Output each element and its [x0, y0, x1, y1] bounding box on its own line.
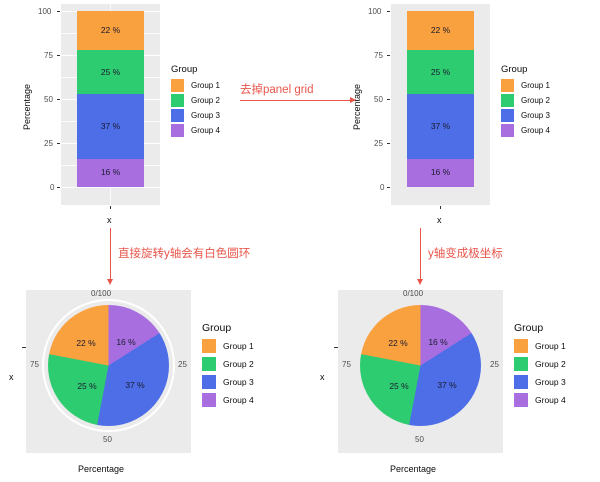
polar-tick-75: 75 — [30, 360, 39, 369]
bar-left-legend: Group Group 1 Group 2 Group 3 Group 4 — [171, 64, 220, 138]
bar-right-y-axis-title: Percentage — [352, 84, 362, 130]
bar-left-ytick-mark — [57, 187, 60, 188]
legend-item-group1[interactable]: Group 1 — [171, 78, 220, 93]
pie-left-plot-panel: 16 % 37 % 25 % 22 % 0/100 25 50 75 — [26, 290, 191, 453]
chart-pie-right: x 16 % 37 % 25 % 22 % 0/100 25 50 75 Per… — [300, 282, 600, 482]
pie-left-legend: Group Group 1 Group 2 Group 3 Group 4 — [202, 322, 254, 409]
legend-item-group2[interactable]: Group 2 — [171, 93, 220, 108]
bar-right-ytick-mark — [387, 143, 390, 144]
bar-right-ytick-mark — [387, 55, 390, 56]
pie-right-plot-panel: 16 % 37 % 25 % 22 % 0/100 25 50 75 — [338, 290, 503, 453]
bar-left-ytick-25: 25 — [44, 139, 53, 148]
bar-segment-label: 16 % — [407, 167, 474, 177]
pie-slice-label-group4: 16 % — [428, 337, 447, 347]
bar-segment-group1: 22 % — [77, 11, 144, 50]
annotation-arrow-vertical-left — [110, 228, 111, 280]
pie-slice-label-group3: 37 % — [125, 380, 144, 390]
legend-item-label: Group 3 — [191, 111, 220, 120]
legend-item-group1[interactable]: Group 1 — [514, 337, 566, 355]
bar-left-plot-panel: 22 % 25 % 37 % 16 % — [61, 4, 160, 205]
bar-segment-group2: 25 % — [77, 50, 144, 94]
bar-left-x-axis-title: x — [107, 215, 112, 225]
pie-slices — [48, 305, 169, 426]
legend-swatch-icon — [514, 357, 528, 371]
bar-left-ytick-mark — [57, 143, 60, 144]
legend-swatch-icon — [202, 375, 216, 389]
bar-right-legend: Group Group 1 Group 2 Group 3 Group 4 — [501, 64, 550, 138]
bar-right-ytick-mark — [387, 99, 390, 100]
legend-swatch-icon — [514, 375, 528, 389]
annotation-arrow-horizontal — [240, 100, 350, 101]
bar-right-ytick-25: 25 — [374, 139, 383, 148]
legend-item-group4[interactable]: Group 4 — [501, 123, 550, 138]
bar-segment-label: 37 % — [407, 121, 474, 131]
legend-swatch-icon — [202, 393, 216, 407]
chart-bar-right: Percentage 100 75 50 25 0 22 % 25 % 37 %… — [330, 0, 600, 240]
pie-right-x-axis-title: Percentage — [390, 464, 436, 474]
bar-left-ytick-mark — [57, 11, 60, 12]
legend-swatch-icon — [514, 393, 528, 407]
legend-item-label: Group 4 — [223, 395, 254, 405]
legend-item-label: Group 2 — [535, 359, 566, 369]
pie-right-legend: Group Group 1 Group 2 Group 3 Group 4 — [514, 322, 566, 409]
annotation-arrowhead-right-icon — [350, 97, 356, 103]
legend-item-group4[interactable]: Group 4 — [514, 391, 566, 409]
legend-item-label: Group 1 — [521, 81, 550, 90]
legend-item-group3[interactable]: Group 3 — [501, 108, 550, 123]
legend-item-group2[interactable]: Group 2 — [202, 355, 254, 373]
legend-item-group1[interactable]: Group 1 — [202, 337, 254, 355]
legend-swatch-icon — [202, 339, 216, 353]
legend-item-group2[interactable]: Group 2 — [501, 93, 550, 108]
bar-left-xtick-mark — [110, 206, 111, 209]
bar-left-ytick-mark — [57, 55, 60, 56]
legend-item-group1[interactable]: Group 1 — [501, 78, 550, 93]
bar-segment-group3: 37 % — [407, 94, 474, 159]
legend-title: Group — [514, 322, 566, 334]
annotation-white-ring: 直接旋转y轴会有白色圆环 — [118, 245, 250, 261]
bar-right-ytick-75: 75 — [374, 51, 383, 60]
bar-right-xtick-mark — [440, 206, 441, 209]
bar-segment-label: 16 % — [77, 167, 144, 177]
bar-left-ytick-75: 75 — [44, 51, 53, 60]
bar-right-ytick-50: 50 — [374, 95, 383, 104]
legend-title: Group — [501, 64, 550, 75]
chart-pie-left: x 16 % 37 % 25 % 22 % 0/100 25 50 75 Per… — [0, 282, 300, 482]
legend-swatch-icon — [501, 94, 514, 107]
legend-swatch-icon — [514, 339, 528, 353]
bar-right-ytick-mark — [387, 11, 390, 12]
legend-item-group4[interactable]: Group 4 — [171, 123, 220, 138]
legend-item-label: Group 1 — [223, 341, 254, 351]
pie-slice-label-group1: 22 % — [76, 338, 95, 348]
legend-item-label: Group 2 — [223, 359, 254, 369]
legend-swatch-icon — [171, 94, 184, 107]
bar-segment-label: 22 % — [407, 25, 474, 35]
bar-right-x-axis-title: x — [437, 215, 442, 225]
bar-right-ytick-0: 0 — [380, 183, 384, 192]
pie-left-y-axis-title: x — [9, 372, 14, 382]
bar-right-ytick-mark — [387, 187, 390, 188]
legend-item-group3[interactable]: Group 3 — [171, 108, 220, 123]
chart-bar-left: Percentage 100 75 50 25 0 22 % 25 % 37 % — [0, 0, 300, 240]
pie-slice-label-group1: 22 % — [388, 338, 407, 348]
bar-left-ytick-50: 50 — [44, 95, 53, 104]
legend-item-label: Group 2 — [521, 96, 550, 105]
legend-item-label: Group 4 — [535, 395, 566, 405]
polar-tick-25: 25 — [490, 360, 499, 369]
legend-item-label: Group 3 — [223, 377, 254, 387]
pie-slice-label-group3: 37 % — [437, 380, 456, 390]
legend-item-label: Group 3 — [521, 111, 550, 120]
bar-segment-group4: 16 % — [77, 159, 144, 187]
legend-item-label: Group 4 — [191, 126, 220, 135]
bar-segment-label: 25 % — [77, 67, 144, 77]
annotation-arrowhead-down-icon — [107, 279, 113, 285]
legend-item-group3[interactable]: Group 3 — [514, 373, 566, 391]
legend-swatch-icon — [171, 109, 184, 122]
polar-tick-25: 25 — [178, 360, 187, 369]
bar-segment-group1: 22 % — [407, 11, 474, 50]
legend-item-label: Group 4 — [521, 126, 550, 135]
annotation-arrow-vertical-right — [420, 228, 421, 280]
legend-swatch-icon — [501, 124, 514, 137]
bar-segment-group3: 37 % — [77, 94, 144, 159]
bar-segment-group4: 16 % — [407, 159, 474, 187]
legend-item-group3[interactable]: Group 3 — [202, 373, 254, 391]
pie-left-x-axis-title: Percentage — [78, 464, 124, 474]
legend-item-label: Group 1 — [191, 81, 220, 90]
pie-slice-label-group2: 25 % — [389, 381, 408, 391]
polar-tick-0-100: 0/100 — [403, 289, 423, 298]
legend-item-group4[interactable]: Group 4 — [202, 391, 254, 409]
legend-item-label: Group 1 — [535, 341, 566, 351]
legend-swatch-icon — [202, 357, 216, 371]
pie-slice-label-group4: 16 % — [116, 337, 135, 347]
polar-tick-0-100: 0/100 — [91, 289, 111, 298]
bar-segment-label: 37 % — [77, 121, 144, 131]
pie-right-y-axis-title: x — [320, 372, 325, 382]
bar-left-ytick-0: 0 — [50, 183, 54, 192]
bar-segment-group2: 25 % — [407, 50, 474, 94]
bar-right-plot-panel: 22 % 25 % 37 % 16 % — [391, 4, 490, 205]
legend-title: Group — [171, 64, 220, 75]
pie-slice-label-group2: 25 % — [77, 381, 96, 391]
pie-slices — [360, 305, 481, 426]
polar-tick-50: 50 — [103, 435, 112, 444]
annotation-polar-y-axis: y轴变成极坐标 — [428, 245, 503, 261]
legend-swatch-icon — [171, 124, 184, 137]
legend-swatch-icon — [501, 109, 514, 122]
legend-item-group2[interactable]: Group 2 — [514, 355, 566, 373]
legend-item-label: Group 3 — [535, 377, 566, 387]
legend-swatch-icon — [501, 79, 514, 92]
bar-left-y-axis-title: Percentage — [22, 84, 32, 130]
bar-segment-label: 25 % — [407, 67, 474, 77]
legend-item-label: Group 2 — [191, 96, 220, 105]
bar-left-ytick-100: 100 — [38, 7, 51, 16]
polar-tick-50: 50 — [415, 435, 424, 444]
annotation-arrowhead-down-icon — [417, 279, 423, 285]
legend-title: Group — [202, 322, 254, 334]
annotation-remove-panel-grid: 去掉panel grid — [240, 81, 314, 97]
bar-right-ytick-100: 100 — [368, 7, 381, 16]
bar-left-ytick-mark — [57, 99, 60, 100]
polar-tick-75: 75 — [342, 360, 351, 369]
bar-segment-label: 22 % — [77, 25, 144, 35]
legend-swatch-icon — [171, 79, 184, 92]
